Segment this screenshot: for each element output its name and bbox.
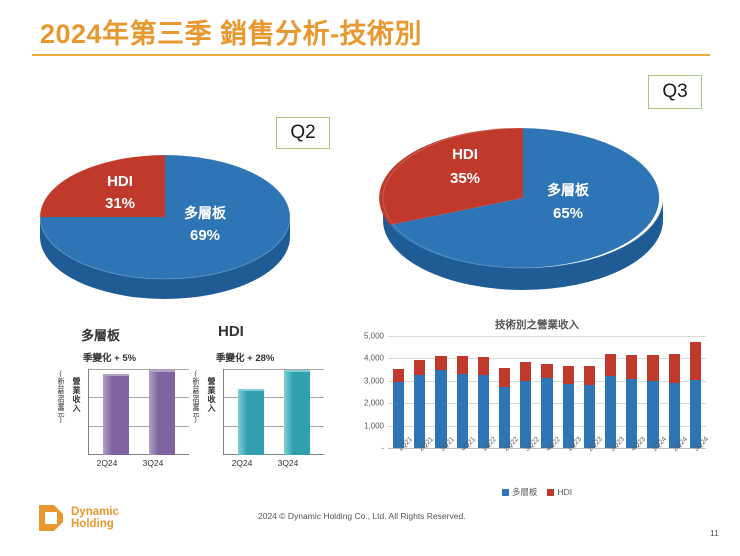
revenue-chart-bar-segment	[435, 356, 446, 370]
legend-swatch-hdi	[547, 489, 554, 496]
quarter-badge-q3: Q3	[648, 75, 702, 109]
legend-label-multilayer: 多層板	[512, 486, 538, 498]
legend-swatch-multilayer	[502, 489, 509, 496]
revenue-chart-bar	[541, 364, 552, 448]
mini-chart-multilayer-delta: 季變化 + 5%	[83, 350, 136, 364]
logo-line-1: Dynamic	[71, 506, 119, 519]
revenue-chart-bar	[563, 366, 574, 448]
company-logo: Dynamic Holding	[38, 504, 119, 532]
mini-chart-multilayer-axis-name: 營業收入	[71, 377, 82, 451]
mini-chart-multilayer-xlabel-1: 3Q24	[137, 458, 169, 468]
page-title: 2024年第三季 銷售分析-技術別	[40, 12, 422, 51]
revenue-chart-ytick: 3,000	[350, 376, 384, 385]
revenue-chart-ytick: 1,000	[350, 421, 384, 430]
revenue-chart-bar	[690, 342, 701, 448]
revenue-chart-bar	[393, 368, 404, 448]
revenue-chart-ytick: 5,000	[350, 332, 384, 341]
pie-q2-svg	[35, 145, 295, 290]
revenue-chart-bar-segment	[605, 376, 616, 448]
revenue-chart-ytick: 2,000	[350, 399, 384, 408]
revenue-chart-bar-segment	[393, 369, 404, 383]
mini-bar-2q24	[103, 374, 129, 455]
revenue-chart-bar-segment	[605, 354, 616, 376]
mini-chart-hdi-title: HDI	[218, 323, 244, 340]
revenue-chart-bar-segment	[626, 355, 637, 379]
revenue-chart-bar-segment	[584, 366, 595, 384]
legend-item-multilayer: 多層板	[502, 486, 538, 498]
page-number: 11	[710, 528, 719, 538]
revenue-chart-bar-segment	[478, 375, 489, 448]
pie-chart-q3: HDI 35% 多層板 65%	[378, 118, 668, 283]
mini-bar-3q24	[149, 370, 175, 455]
revenue-chart-bar-segment	[393, 382, 404, 448]
revenue-chart-bar-segment	[520, 362, 531, 381]
revenue-chart-bar-segment	[647, 355, 658, 381]
revenue-chart-bar	[499, 368, 510, 448]
revenue-chart-bar	[435, 356, 446, 448]
copyright-text: 2024 © Dynamic Holding Co., Ltd. All Rig…	[258, 511, 466, 521]
mini-bar-3q24	[284, 370, 310, 455]
revenue-chart-bar-segment	[457, 356, 468, 375]
mini-chart-multilayer-xlabel-0: 2Q24	[91, 458, 123, 468]
revenue-chart-ytick: 4,000	[350, 354, 384, 363]
revenue-chart-gridline	[388, 336, 706, 337]
revenue-chart-bar-segment	[435, 370, 446, 448]
revenue-chart-bar-segment	[414, 360, 425, 375]
slide: 2024年第三季 銷售分析-技術別 Q2 Q3 HDI 31% 多層板 69%	[0, 0, 740, 556]
title-underline	[32, 54, 710, 56]
revenue-chart-bar-segment	[690, 342, 701, 380]
revenue-chart-bar-segment	[457, 374, 468, 448]
mini-chart-multilayer-axis-unit: (新台幣佰萬元)	[57, 371, 64, 455]
pie-q2-slice-hdi	[40, 155, 165, 217]
mini-chart-hdi-axis-name: 營業收入	[206, 377, 217, 451]
revenue-chart-bar-segment	[563, 366, 574, 384]
revenue-by-technology-chart: 技術別之營業收入 -1,0002,0003,0004,0005,0001Q212…	[352, 315, 722, 505]
revenue-chart-bar-segment	[499, 368, 510, 387]
logo-wordmark: Dynamic Holding	[71, 506, 119, 531]
revenue-chart-bar	[605, 354, 616, 448]
quarter-badge-q2-label: Q2	[290, 122, 315, 144]
revenue-chart-bar	[478, 357, 489, 448]
mini-chart-hdi: HDI 季變化 + 28% (新台幣佰萬元) 營業收入 2Q24 3Q24	[190, 325, 335, 475]
mini-chart-hdi-xlabel-1: 3Q24	[272, 458, 304, 468]
revenue-chart-bar	[669, 354, 680, 448]
mini-chart-multilayer-plot	[88, 369, 189, 455]
dynamic-holding-logo-icon	[38, 504, 64, 532]
mini-chart-hdi-xlabel-0: 2Q24	[226, 458, 258, 468]
revenue-chart-ytick: -	[350, 444, 384, 453]
logo-line-2: Holding	[71, 518, 119, 531]
revenue-chart-bar	[647, 355, 658, 448]
revenue-chart-bar-segment	[584, 385, 595, 448]
revenue-chart-bar-segment	[690, 380, 701, 448]
revenue-chart-bar-segment	[478, 357, 489, 376]
revenue-chart-bar	[584, 366, 595, 448]
logo-d-mark	[38, 504, 64, 532]
mini-chart-multilayer: 多層板 季變化 + 5% (新台幣佰萬元) 營業收入 2Q24 3Q24	[55, 325, 195, 475]
revenue-chart-bar-segment	[541, 364, 552, 378]
revenue-chart-legend: 多層板 HDI	[352, 486, 722, 498]
revenue-chart-bar-segment	[414, 375, 425, 448]
revenue-chart-bar	[414, 360, 425, 448]
revenue-chart-bar-segment	[541, 378, 552, 448]
legend-label-hdi: HDI	[557, 487, 572, 497]
revenue-chart-bar	[626, 355, 637, 448]
mini-chart-hdi-delta: 季變化 + 28%	[216, 350, 274, 364]
mini-chart-hdi-plot	[223, 369, 324, 455]
mini-chart-multilayer-title: 多層板	[81, 325, 120, 344]
revenue-chart-bar-segment	[499, 387, 510, 448]
revenue-chart-title: 技術別之營業收入	[352, 317, 722, 332]
quarter-badge-q3-label: Q3	[662, 81, 687, 103]
pie-chart-q2: HDI 31% 多層板 69%	[35, 145, 295, 290]
revenue-chart-plot: -1,0002,0003,0004,0005,0001Q212Q213Q214Q…	[388, 336, 706, 448]
pie-q3-svg	[378, 118, 668, 283]
revenue-chart-bar-segment	[669, 383, 680, 448]
legend-item-hdi: HDI	[547, 487, 572, 497]
revenue-chart-bar	[457, 356, 468, 449]
revenue-chart-bar-segment	[626, 379, 637, 448]
mini-bar-2q24	[238, 389, 264, 455]
mini-chart-hdi-axis-unit: (新台幣佰萬元)	[192, 371, 199, 455]
revenue-chart-bar-segment	[647, 381, 658, 448]
revenue-chart-bar-segment	[520, 381, 531, 448]
revenue-chart-bar-segment	[563, 384, 574, 448]
revenue-chart-bar	[520, 362, 531, 448]
revenue-chart-bar-segment	[669, 354, 680, 383]
